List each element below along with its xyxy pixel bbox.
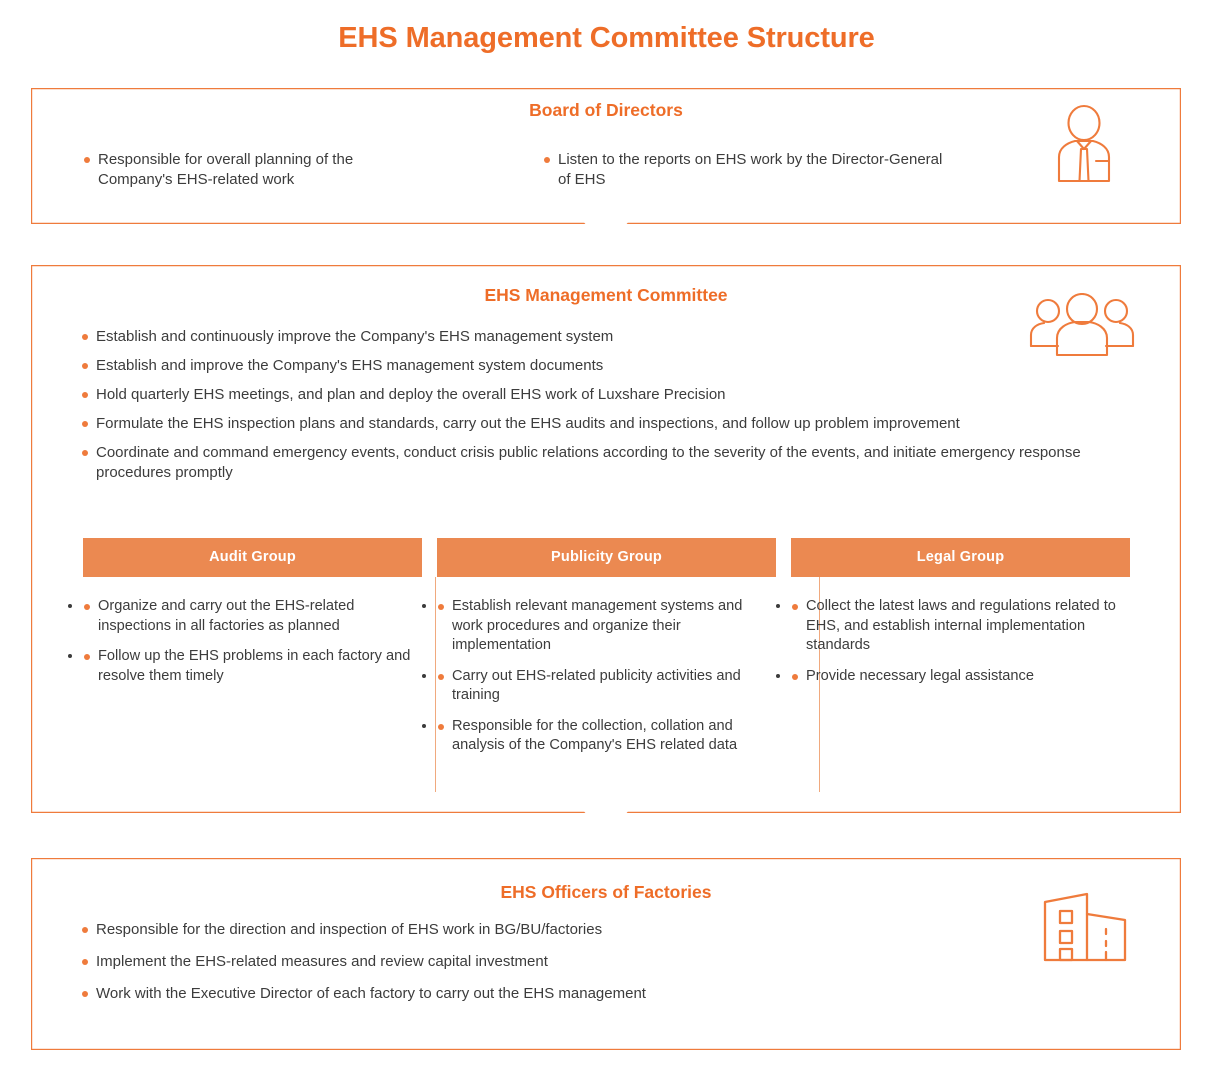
list-item: Responsible for overall planning of the … <box>83 150 413 190</box>
board-bullets-right: Listen to the reports on EHS work by the… <box>543 150 943 190</box>
group-column-audit: Audit Group Organize and carry out the E… <box>83 538 422 767</box>
committee-heading: EHS Management Committee <box>31 285 1181 306</box>
group-column-legal: Legal Group Collect the latest laws and … <box>791 538 1130 767</box>
officers-heading: EHS Officers of Factories <box>31 882 1181 903</box>
group-bullets-legal: Collect the latest laws and regulations … <box>791 597 1130 686</box>
person-suit-icon <box>1043 103 1125 185</box>
list-item: Hold quarterly EHS meetings, and plan an… <box>81 385 1141 405</box>
list-item: Establish and continuously improve the C… <box>81 327 1141 347</box>
board-of-directors-panel: Board of Directors Responsible for overa… <box>31 88 1181 224</box>
list-item: Organize and carry out the EHS-related i… <box>83 597 418 636</box>
list-item: Provide necessary legal assistance <box>791 667 1126 687</box>
diagram-canvas: EHS Management Committee Structure Board… <box>0 0 1213 1073</box>
committee-bullets: Establish and continuously improve the C… <box>81 327 1141 492</box>
group-bullets-audit: Organize and carry out the EHS-related i… <box>83 597 422 686</box>
list-item: Responsible for the direction and inspec… <box>81 920 981 940</box>
building-icon <box>1037 886 1133 968</box>
ehs-management-committee-panel: EHS Management Committee Establish and c… <box>31 265 1181 813</box>
list-item: Responsible for the collection, collatio… <box>437 717 772 756</box>
group-header-audit: Audit Group <box>83 538 422 577</box>
list-item: Formulate the EHS inspection plans and s… <box>81 414 1141 434</box>
list-item: Listen to the reports on EHS work by the… <box>543 150 943 190</box>
officers-bullets: Responsible for the direction and inspec… <box>81 920 981 1016</box>
board-heading: Board of Directors <box>31 100 1181 121</box>
list-item: Collect the latest laws and regulations … <box>791 597 1126 656</box>
list-item: Implement the EHS-related measures and r… <box>81 952 981 972</box>
list-item: Follow up the EHS problems in each facto… <box>83 647 418 686</box>
group-bullets-publicity: Establish relevant management systems an… <box>437 597 776 756</box>
list-item: Establish relevant management systems an… <box>437 597 772 656</box>
list-item: Coordinate and command emergency events,… <box>81 443 1141 483</box>
board-bullets-left: Responsible for overall planning of the … <box>83 150 413 190</box>
ehs-officers-panel: EHS Officers of Factories Responsible fo… <box>31 858 1181 1050</box>
list-item: Establish and improve the Company's EHS … <box>81 356 1141 376</box>
people-group-icon <box>1027 293 1137 363</box>
group-header-legal: Legal Group <box>791 538 1130 577</box>
list-item: Carry out EHS-related publicity activiti… <box>437 667 772 706</box>
group-header-publicity: Publicity Group <box>437 538 776 577</box>
list-item: Work with the Executive Director of each… <box>81 984 981 1004</box>
sub-groups-row: Audit Group Organize and carry out the E… <box>83 538 1131 767</box>
group-column-publicity: Publicity Group Establish relevant manag… <box>437 538 776 767</box>
page-title: EHS Management Committee Structure <box>0 22 1213 55</box>
